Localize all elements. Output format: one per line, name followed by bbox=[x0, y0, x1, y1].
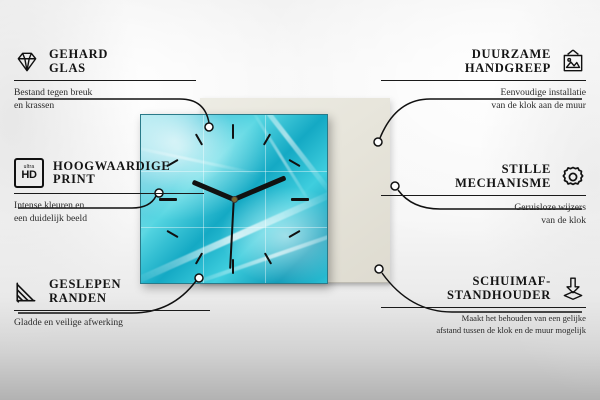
feature-header: ultra HD HOOGWAARDIGE PRINT bbox=[14, 158, 219, 188]
hour-tick bbox=[232, 124, 234, 139]
feature-stille-mechanisme: STILLE MECHANISME Geruisloze wijzers van… bbox=[381, 163, 586, 227]
feature-title: STILLE MECHANISME bbox=[455, 163, 551, 190]
divider bbox=[381, 80, 586, 81]
diamond-icon bbox=[14, 49, 40, 75]
feature-title-line1: GESLEPEN bbox=[49, 278, 121, 292]
feature-duurzame-handgreep: DUURZAME HANDGREEP Eenvoudige installati… bbox=[381, 48, 586, 112]
feature-title-line1: DUURZAME bbox=[465, 48, 551, 62]
infographic-canvas: GEHARD GLAS Bestand tegen breuk en krass… bbox=[0, 0, 600, 400]
ultra-hd-badge-icon: ultra HD bbox=[14, 158, 44, 188]
divider bbox=[14, 310, 210, 311]
feature-title: GESLEPEN RANDEN bbox=[49, 278, 121, 305]
diagonal-lines-icon bbox=[14, 279, 40, 305]
hour-tick bbox=[232, 259, 234, 274]
divider bbox=[381, 195, 586, 196]
feature-title: DUURZAME HANDGREEP bbox=[465, 48, 551, 75]
feature-desc-line2: en krassen bbox=[14, 99, 219, 112]
hd-label: HD bbox=[21, 170, 36, 181]
gear-icon bbox=[560, 164, 586, 190]
feature-desc-line1: Maakt het behouden van een gelijke bbox=[381, 313, 586, 325]
feature-desc-line1: Geruisloze wijzers bbox=[381, 201, 586, 214]
feature-header: STILLE MECHANISME bbox=[381, 163, 586, 190]
hanging-picture-frame-icon bbox=[560, 49, 586, 75]
feature-header: SCHUIMAF- STANDHOUDER bbox=[381, 275, 586, 302]
feature-title-line2: PRINT bbox=[53, 173, 170, 187]
feature-title: SCHUIMAF- STANDHOUDER bbox=[447, 275, 551, 302]
feature-description: Bestand tegen breuk en krassen bbox=[14, 86, 219, 112]
feature-desc-line2: van de klok aan de muur bbox=[381, 99, 586, 112]
feature-title-line2: HANDGREEP bbox=[465, 62, 551, 76]
feature-schuimafstandhouder: SCHUIMAF- STANDHOUDER Maakt het behouden… bbox=[381, 275, 586, 337]
feature-description: Eenvoudige installatie van de klok aan d… bbox=[381, 86, 586, 112]
feature-title: HOOGWAARDIGE PRINT bbox=[53, 160, 170, 187]
glass-seam bbox=[141, 227, 327, 228]
divider bbox=[14, 193, 204, 194]
divider bbox=[381, 307, 586, 308]
hour-tick bbox=[166, 230, 178, 238]
feature-title-line1: GEHARD bbox=[49, 48, 108, 62]
feature-desc-line1: Eenvoudige installatie bbox=[381, 86, 586, 99]
feature-title-line2: GLAS bbox=[49, 62, 108, 76]
feature-desc-line1: Intense kleuren en bbox=[14, 199, 219, 212]
divider bbox=[14, 80, 196, 81]
feature-desc-line2: van de klok bbox=[381, 214, 586, 227]
feature-description: Gladde en veilige afwerking bbox=[14, 316, 219, 329]
hour-tick bbox=[288, 159, 300, 167]
feature-description: Maakt het behouden van een gelijke afsta… bbox=[381, 313, 586, 337]
feature-geslepen-randen: GESLEPEN RANDEN Gladde en veilige afwerk… bbox=[14, 278, 219, 329]
feature-hoogwaardige-print: ultra HD HOOGWAARDIGE PRINT Intense kleu… bbox=[14, 158, 219, 225]
feature-header: GESLEPEN RANDEN bbox=[14, 278, 219, 305]
feature-description: Intense kleuren en een duidelijk beeld bbox=[14, 199, 219, 225]
clock-center-cap bbox=[231, 196, 238, 203]
hour-tick bbox=[291, 198, 309, 201]
feature-desc-line2: een duidelijk beeld bbox=[14, 212, 219, 225]
arrow-down-onto-pad-icon bbox=[560, 276, 586, 302]
feature-desc-line1: Gladde en veilige afwerking bbox=[14, 316, 219, 329]
minute-hand bbox=[233, 175, 287, 201]
feature-title-line2: MECHANISME bbox=[455, 177, 551, 191]
hour-tick bbox=[288, 230, 300, 238]
feature-title-line1: HOOGWAARDIGE bbox=[53, 160, 170, 174]
feature-header: GEHARD GLAS bbox=[14, 48, 219, 75]
feature-description: Geruisloze wijzers van de klok bbox=[381, 201, 586, 227]
feature-desc-line1: Bestand tegen breuk bbox=[14, 86, 219, 99]
feature-header: DUURZAME HANDGREEP bbox=[381, 48, 586, 75]
feature-title: GEHARD GLAS bbox=[49, 48, 108, 75]
feature-title-line1: STILLE bbox=[455, 163, 551, 177]
feather-streak bbox=[238, 114, 328, 196]
feature-gehard-glas: GEHARD GLAS Bestand tegen breuk en krass… bbox=[14, 48, 219, 112]
feature-desc-line2: afstand tussen de klok en de muur mogeli… bbox=[381, 325, 586, 337]
feature-title-line2: STANDHOUDER bbox=[447, 289, 551, 303]
feature-title-line2: RANDEN bbox=[49, 292, 121, 306]
feature-title-line1: SCHUIMAF- bbox=[447, 275, 551, 289]
